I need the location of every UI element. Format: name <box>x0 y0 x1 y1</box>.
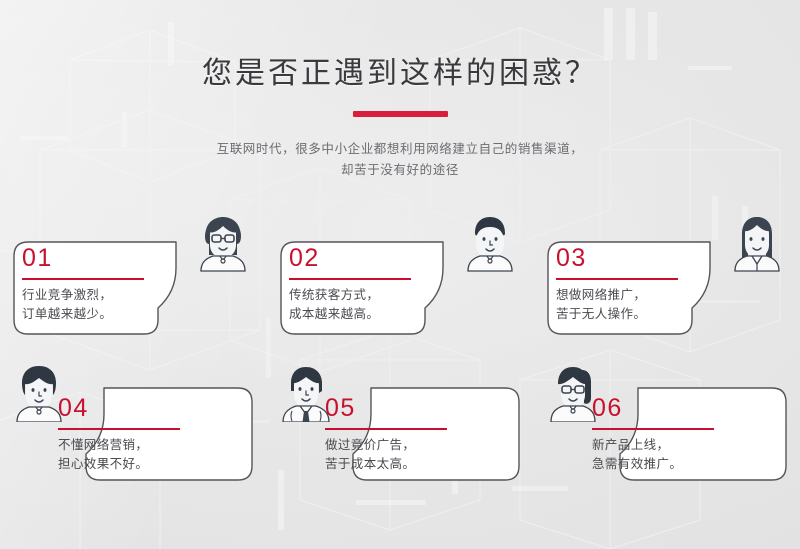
card-05[interactable]: 05 做过竟价广告， 苦于成本太高。 <box>267 362 533 492</box>
card-06[interactable]: 06 新产品上线， 急需有效推广。 <box>534 362 800 492</box>
card-number-rule <box>592 428 714 430</box>
card-number-rule <box>325 428 447 430</box>
card-text-line-1: 想做网络推广， <box>556 286 646 305</box>
card-text-line-1: 做过竟价广告， <box>325 436 415 455</box>
card-text-line-2: 担心效果不好。 <box>58 455 148 474</box>
card-text: 传统获客方式， 成本越来越高。 <box>289 286 379 324</box>
woman-straight-hair-collar-avatar-icon <box>730 214 784 272</box>
card-number-rule <box>22 278 144 280</box>
woman-glasses-ponytail-avatar-icon <box>546 364 600 422</box>
card-text-line-1: 新产品上线， <box>592 436 682 455</box>
card-row-top: 01 行业竞争激烈， 订单越来越少。 <box>0 216 800 346</box>
card-text: 新产品上线， 急需有效推广。 <box>592 436 682 474</box>
card-number: 03 <box>556 246 587 271</box>
man-short-hair-avatar-icon <box>463 214 517 272</box>
page-title: 您是否正遇到这样的困惑？ <box>0 48 800 92</box>
promo-section: 您是否正遇到这样的困惑？ 互联网时代，很多中小企业都想利用网络建立自己的销售渠道… <box>0 0 800 549</box>
card-number-rule <box>289 278 411 280</box>
card-text-line-2: 订单越来越少。 <box>22 305 112 324</box>
card-text: 想做网络推广， 苦于无人操作。 <box>556 286 646 324</box>
card-text-line-2: 苦于成本太高。 <box>325 455 415 474</box>
card-03[interactable]: 03 想做网络推广， 苦于无人操作。 <box>534 216 800 346</box>
subtitle-line-1: 互联网时代，很多中小企业都想利用网络建立自己的销售渠道， <box>0 139 800 160</box>
card-02[interactable]: 02 传统获客方式， 成本越来越高。 <box>267 216 533 346</box>
card-number: 02 <box>289 246 320 271</box>
card-text-line-2: 成本越来越高。 <box>289 305 379 324</box>
subtitle-line-2: 却苦于没有好的途径 <box>0 160 800 181</box>
header: 您是否正遇到这样的困惑？ 互联网时代，很多中小企业都想利用网络建立自己的销售渠道… <box>0 0 800 181</box>
subtitle: 互联网时代，很多中小企业都想利用网络建立自己的销售渠道， 却苦于没有好的途径 <box>0 139 800 181</box>
card-text-line-2: 苦于无人操作。 <box>556 305 646 324</box>
card-number-rule <box>58 428 180 430</box>
card-text: 行业竞争激烈， 订单越来越少。 <box>22 286 112 324</box>
card-04[interactable]: 04 不懂网络营销， 担心效果不好。 <box>0 362 266 492</box>
card-01[interactable]: 01 行业竞争激烈， 订单越来越少。 <box>0 216 266 346</box>
title-underline-rule <box>353 111 448 117</box>
card-number-rule <box>556 278 678 280</box>
card-text-line-2: 急需有效推广。 <box>592 455 682 474</box>
card-text-line-1: 行业竞争激烈， <box>22 286 112 305</box>
card-text: 不懂网络营销， 担心效果不好。 <box>58 436 148 474</box>
card-text-line-1: 传统获客方式， <box>289 286 379 305</box>
man-curly-hair-avatar-icon <box>12 364 66 422</box>
woman-glasses-long-hair-avatar-icon <box>196 214 250 272</box>
card-number: 01 <box>22 246 53 271</box>
card-text-line-1: 不懂网络营销， <box>58 436 148 455</box>
businessman-necktie-avatar-icon <box>279 364 333 422</box>
card-text: 做过竟价广告， 苦于成本太高。 <box>325 436 415 474</box>
card-row-bottom: 04 不懂网络营销， 担心效果不好。 <box>0 362 800 492</box>
